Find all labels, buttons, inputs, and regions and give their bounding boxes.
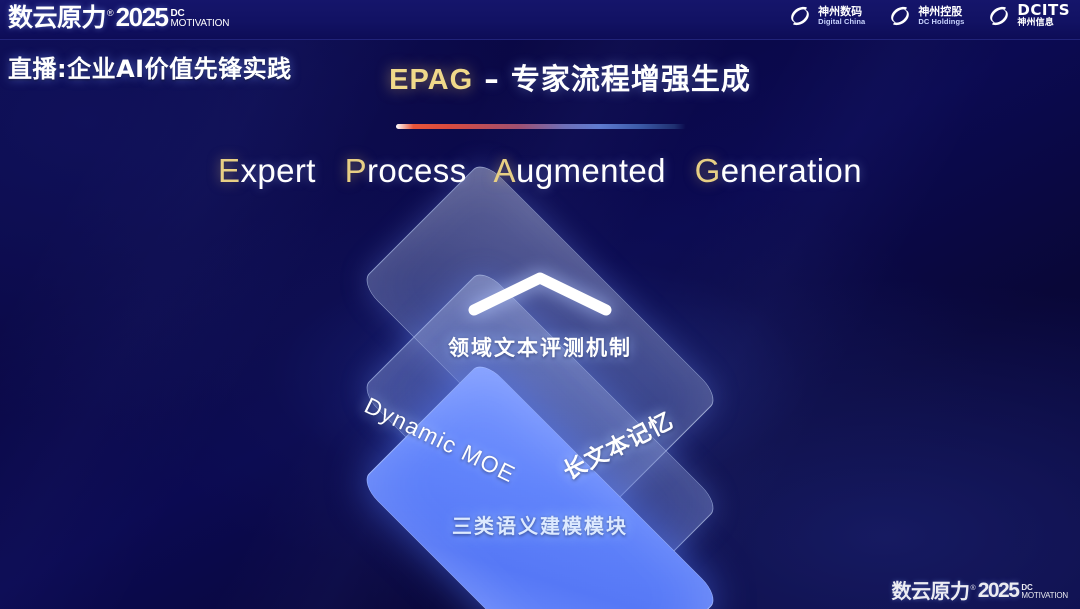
- watermark-dc-motivation: DC MOTIVATION: [1021, 584, 1068, 600]
- subtitle-rest-process: rocess: [367, 152, 467, 189]
- spiral-logo-icon: [986, 3, 1012, 29]
- subtitle-cap-a: A: [494, 152, 516, 189]
- subtitle-word-expert: Expert: [218, 152, 316, 189]
- subtitle-space-1: [325, 152, 335, 189]
- subtitle-space-2: [476, 152, 486, 189]
- subtitle-word-generation: Generation: [695, 152, 862, 189]
- partner-name-en-dcits: DCITS: [1017, 3, 1070, 19]
- brand-logo-year: 2025: [116, 4, 168, 30]
- headline-chinese: 专家流程增强生成: [511, 62, 751, 96]
- headline-acronym: EPAG: [389, 64, 473, 96]
- brand-logo-dc-motivation: DC MOTIVATION: [171, 9, 230, 29]
- partner-label-dcits: DCITS 神州信息: [1017, 3, 1070, 28]
- brand-logo-chinese: 数云原力: [8, 5, 106, 30]
- watermark-chinese: 数云原力: [892, 581, 970, 601]
- spiral-logo-icon: [887, 3, 913, 29]
- subtitle-rest-augmented: ugmented: [516, 152, 666, 189]
- subtitle-rest-generation: eneration: [721, 152, 862, 189]
- gradient-divider: [396, 124, 686, 129]
- partner-logo-dcits: DCITS 神州信息: [986, 3, 1070, 29]
- partner-label-dc-holdings: 神州控股 DC Holdings: [918, 6, 964, 25]
- spiral-logo-icon: [787, 3, 813, 29]
- subtitle-rest-expert: xpert: [240, 152, 315, 189]
- headline-separator: –: [473, 62, 511, 96]
- live-stream-title: 直播:企业AI价值先锋实践: [8, 49, 292, 84]
- watermark-registered-mark: ®: [971, 585, 976, 592]
- subtitle-cap-p: P: [345, 152, 367, 189]
- watermark-year: 2025: [978, 580, 1019, 601]
- partner-name-cn: 神州信息: [1017, 19, 1070, 28]
- subtitle-word-augmented: Augmented: [494, 152, 666, 189]
- chevron-up-icon: [460, 264, 620, 320]
- partner-label-digital-china: 神州数码 Digital China: [818, 6, 865, 25]
- brand-logo-registered-mark: ®: [107, 9, 114, 18]
- presentation-slide: 数云原力 ® 2025 DC MOTIVATION 直播:企业AI价值先锋实践 …: [0, 0, 1080, 609]
- partner-logo-dc-holdings: 神州控股 DC Holdings: [887, 3, 964, 29]
- subtitle-cap-g: G: [695, 152, 721, 189]
- subtitle-word-process: Process: [345, 152, 467, 189]
- slide-subtitle: Expert Process Augmented Generation: [0, 152, 1080, 190]
- partner-name-en: DC Holdings: [918, 18, 964, 26]
- watermark-motivation: MOTIVATION: [1021, 592, 1068, 600]
- partner-name-en: Digital China: [818, 18, 865, 26]
- subtitle-cap-e: E: [218, 152, 240, 189]
- brand-logo: 数云原力 ® 2025 DC MOTIVATION: [8, 4, 229, 30]
- watermark-logo: 数云原力 ® 2025 DC MOTIVATION: [892, 580, 1068, 601]
- subtitle-space-3: [676, 152, 686, 189]
- brand-logo-motivation: MOTIVATION: [171, 19, 230, 29]
- partner-logo-digital-china: 神州数码 Digital China: [787, 3, 865, 29]
- partner-logo-group: 神州数码 Digital China 神州控股 DC Holdings: [787, 3, 1070, 29]
